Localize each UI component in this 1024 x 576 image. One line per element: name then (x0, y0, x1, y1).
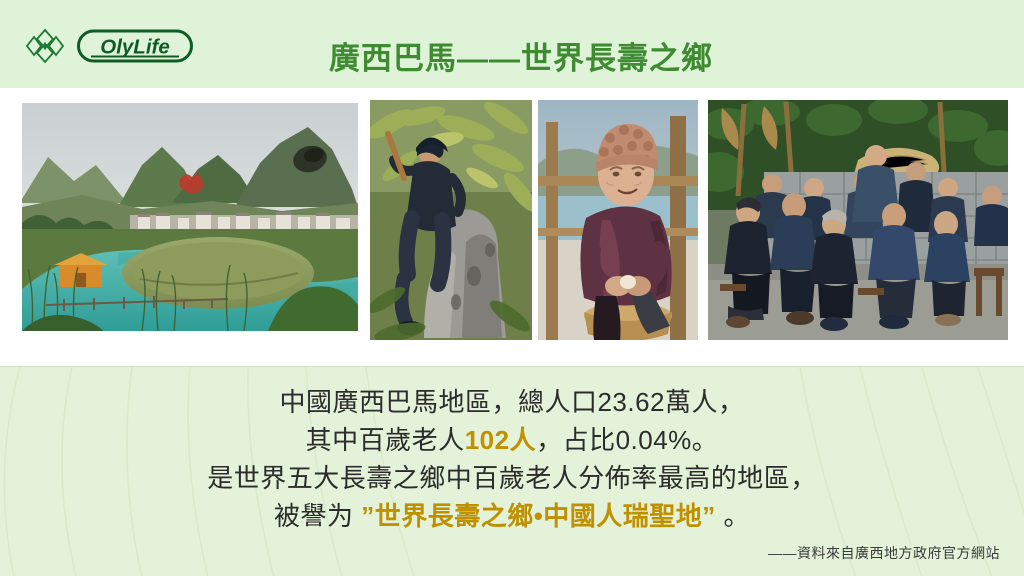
photo-landscape (22, 103, 358, 331)
photo-pair (370, 100, 698, 340)
presentation-slide: OlyLife 廣西巴馬——世界長壽之鄉 (0, 0, 1024, 576)
source-attribution: ——資料來自廣西地方政府官方網站 (768, 543, 1000, 563)
summary-line-2: 其中百歲老人102人，占比0.04%。 (0, 421, 1024, 459)
photo-group (708, 100, 1008, 340)
summary-line-2-prefix: 其中百歲老人 (306, 425, 465, 455)
centenarian-count-highlight: 102人 (465, 425, 536, 455)
summary-line-4-prefix: 被譽为 (274, 501, 361, 531)
summary-line-3: 是世界五大長壽之鄉中百歲老人分佈率最高的地區， (0, 459, 1024, 497)
slide-header: OlyLife 廣西巴馬——世界長壽之鄉 (0, 0, 1024, 88)
summary-line-1: 中國廣西巴馬地區，總人口23.62萬人， (0, 383, 1024, 421)
summary-panel: 中國廣西巴馬地區，總人口23.62萬人， 其中百歲老人102人，占比0.04%。… (0, 366, 1024, 576)
photo-strip (0, 88, 1024, 366)
page-title: 廣西巴馬——世界長壽之鄉 (0, 33, 1024, 78)
summary-line-3-text: 是世界五大長壽之鄉中百歲老人分佈率最高的地區， (207, 463, 817, 493)
summary-line-1-text: 中國廣西巴馬地區，總人口23.62萬人， (279, 387, 744, 417)
summary-text: 中國廣西巴馬地區，總人口23.62萬人， 其中百歲老人102人，占比0.04%。… (0, 383, 1024, 535)
summary-line-4-suffix: 。 (716, 501, 750, 531)
epithet-highlight: ”世界長壽之鄉•中國人瑞聖地” (361, 501, 716, 531)
summary-line-4: 被譽为 ”世界長壽之鄉•中國人瑞聖地” 。 (0, 497, 1024, 535)
summary-line-2-suffix: ，占比0.04%。 (536, 425, 718, 455)
